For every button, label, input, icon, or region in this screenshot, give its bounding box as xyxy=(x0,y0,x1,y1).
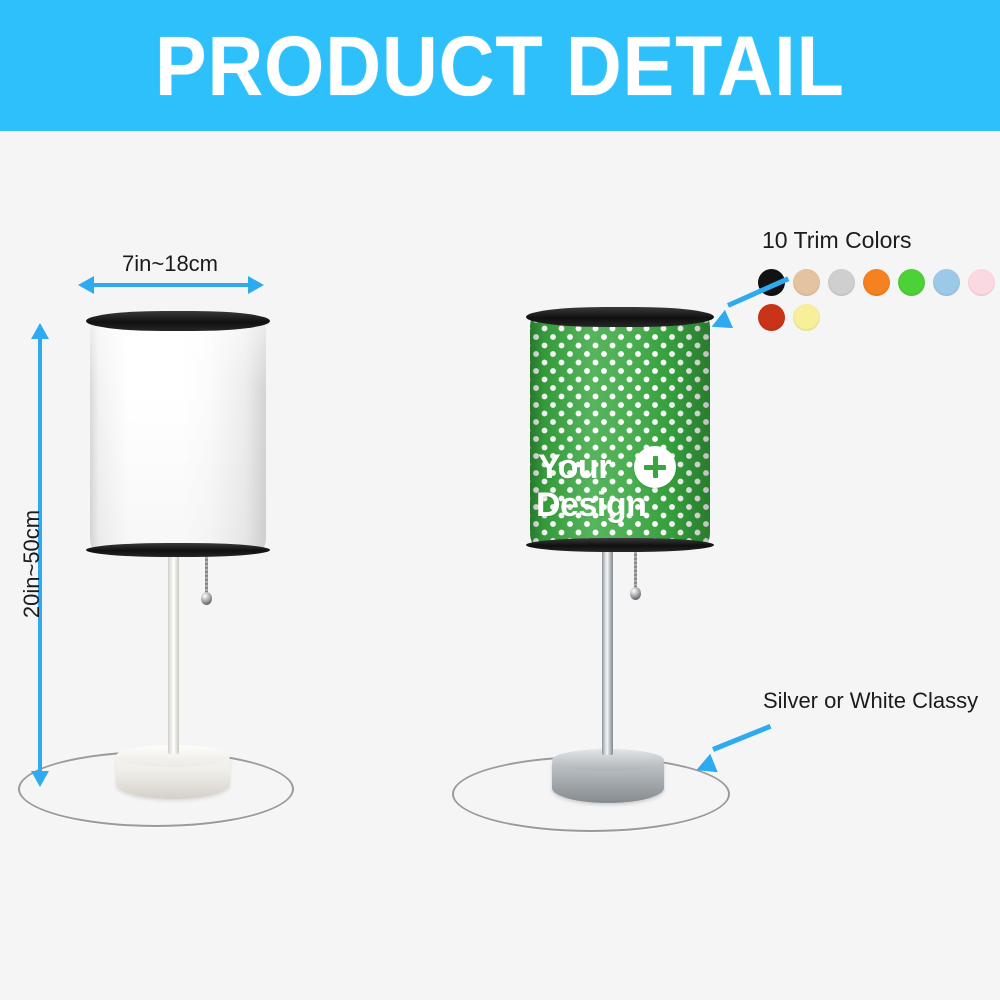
your-design-logo: Your Design xyxy=(536,446,686,524)
plus-icon xyxy=(634,446,676,488)
base-pointer-shaft xyxy=(712,724,771,752)
white-lamp-shade xyxy=(90,319,266,551)
green-lamp-bottom-trim xyxy=(526,538,714,552)
base-finish-pointer-arrow xyxy=(693,723,777,769)
green-lamp-top-trim xyxy=(526,307,714,327)
white-lamp-pole xyxy=(168,552,179,754)
width-arrow-right-head xyxy=(248,276,264,294)
green-lamp-pole xyxy=(602,547,613,755)
trim-colors-pointer-arrow xyxy=(710,283,794,327)
trim-colors-title: 10 Trim Colors xyxy=(762,227,912,254)
product-detail-stage: Your Design 7in~18cm 20in~50cm 10 Trim C… xyxy=(0,131,1000,1000)
white-lamp-bottom-trim xyxy=(86,543,270,557)
height-arrow-bottom-head xyxy=(31,771,49,787)
green-lamp-base xyxy=(552,749,664,803)
width-arrow-left-head xyxy=(78,276,94,294)
logo-line-design: Design xyxy=(536,488,646,522)
white-lamp-shade-surface xyxy=(90,319,266,551)
page-title: PRODUCT DETAIL xyxy=(155,24,845,108)
green-lamp-pull-chain[interactable] xyxy=(634,547,637,591)
plus-icon-vertical-bar xyxy=(653,456,658,478)
trim-swatch-pale-yellow[interactable] xyxy=(793,304,820,331)
trim-pointer-tip xyxy=(708,310,733,336)
header-banner: PRODUCT DETAIL xyxy=(0,0,1000,131)
white-lamp-chain-ball[interactable] xyxy=(201,592,212,605)
trim-colors-swatch-grid xyxy=(758,269,1000,331)
base-finish-label: Silver or White Classy xyxy=(763,688,978,714)
height-arrow-top-head xyxy=(31,323,49,339)
logo-line-your: Your xyxy=(538,450,611,484)
trim-swatch-orange[interactable] xyxy=(863,269,890,296)
white-lamp-pull-chain[interactable] xyxy=(205,552,208,596)
width-dimension-label: 7in~18cm xyxy=(122,251,218,277)
width-dimension-line xyxy=(94,283,248,287)
trim-swatch-pink[interactable] xyxy=(968,269,995,296)
white-lamp-top-trim xyxy=(86,311,270,331)
trim-swatch-light-gray[interactable] xyxy=(828,269,855,296)
height-dimension-label: 20in~50cm xyxy=(19,489,45,639)
trim-swatch-green[interactable] xyxy=(898,269,925,296)
trim-swatch-tan[interactable] xyxy=(793,269,820,296)
trim-swatch-light-blue[interactable] xyxy=(933,269,960,296)
green-lamp-chain-ball[interactable] xyxy=(630,587,641,600)
